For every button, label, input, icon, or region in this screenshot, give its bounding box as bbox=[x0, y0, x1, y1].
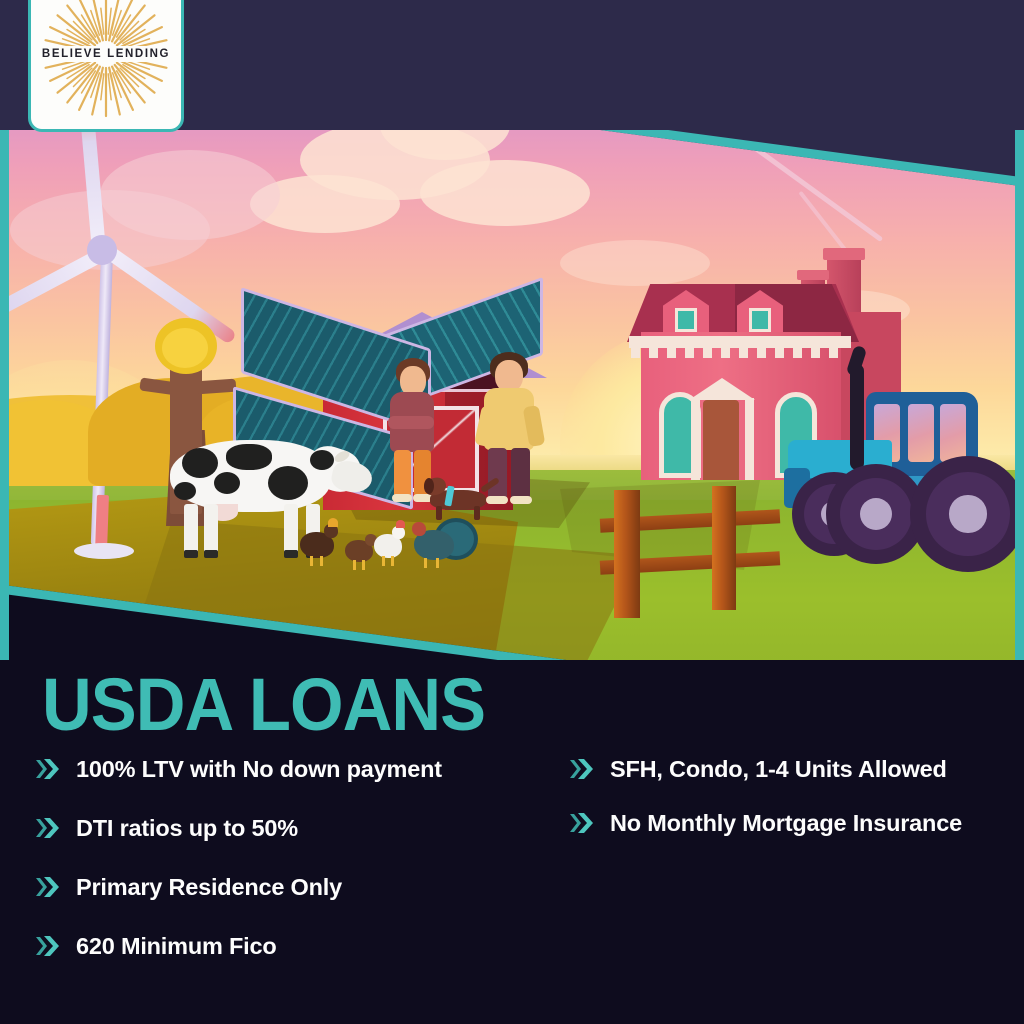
list-item: 100% LTV with No down payment bbox=[34, 754, 560, 786]
portico-column bbox=[691, 398, 700, 480]
cow-hoof bbox=[284, 550, 298, 558]
list-item: DTI ratios up to 50% bbox=[34, 813, 560, 845]
list-item: SFH, Condo, 1-4 Units Allowed bbox=[568, 754, 1024, 786]
bird-leg bbox=[391, 556, 394, 566]
cow-spot bbox=[268, 466, 308, 500]
exhaust-stack bbox=[850, 364, 864, 470]
sunburst-icon bbox=[31, 0, 181, 129]
house-door bbox=[703, 400, 739, 480]
double-chevron-right-icon bbox=[34, 757, 60, 786]
list-item-label: DTI ratios up to 50% bbox=[76, 813, 298, 843]
rooster-comb bbox=[328, 518, 338, 527]
farmer-leg bbox=[488, 448, 507, 500]
scarecrow-head-highlight bbox=[162, 328, 208, 368]
list-item: 620 Minimum Fico bbox=[34, 931, 560, 963]
logo-wordmark: BELIEVE LENDING bbox=[39, 46, 173, 62]
cow-spot bbox=[226, 444, 272, 470]
farmer-leg bbox=[511, 448, 530, 500]
bird-leg bbox=[320, 556, 323, 566]
house-dentil-trim bbox=[631, 346, 847, 358]
cow-spot bbox=[182, 448, 218, 478]
double-chevron-right-icon bbox=[34, 934, 60, 963]
dog-ear bbox=[424, 478, 434, 494]
fence-post bbox=[712, 486, 736, 610]
cow-leg bbox=[284, 504, 298, 554]
bird-leg bbox=[310, 556, 313, 566]
chimney-cap bbox=[797, 270, 829, 280]
dairy-cow bbox=[160, 430, 370, 550]
dormer-window bbox=[675, 308, 697, 332]
list-item-label: Primary Residence Only bbox=[76, 872, 342, 902]
dog-leg bbox=[436, 506, 442, 520]
double-chevron-right-icon bbox=[568, 811, 594, 840]
list-item: Primary Residence Only bbox=[34, 872, 560, 904]
list-item-label: 100% LTV with No down payment bbox=[76, 754, 442, 784]
cow-spot bbox=[214, 472, 240, 494]
content-panel: USDA LOANS 100% LTV with No down payment… bbox=[0, 660, 1024, 1024]
cow-spot bbox=[310, 450, 334, 470]
bird-leg bbox=[353, 560, 356, 570]
cow-hoof bbox=[204, 550, 218, 558]
cow-spot bbox=[174, 482, 196, 500]
believe-lending-logo[interactable]: BELIEVE LENDING bbox=[28, 0, 184, 132]
cloud-icon bbox=[420, 160, 590, 226]
scarecrow-arm bbox=[196, 379, 237, 395]
cow-hoof bbox=[184, 550, 198, 558]
cow-leg bbox=[204, 504, 218, 554]
chimney-cap bbox=[823, 248, 865, 260]
turbine-hub bbox=[87, 235, 117, 265]
bird-leg bbox=[382, 556, 385, 566]
tractor-window bbox=[908, 404, 934, 462]
wind-turbine bbox=[40, 165, 180, 565]
double-chevron-right-icon bbox=[34, 816, 60, 845]
benefits-column-left: 100% LTV with No down payment DTI ratios… bbox=[0, 754, 560, 963]
farmer-leg bbox=[394, 450, 411, 498]
chicken-comb bbox=[396, 520, 405, 528]
bird-leg bbox=[424, 558, 427, 568]
page-title: USDA LOANS bbox=[42, 668, 485, 742]
list-item: No Monthly Mortgage Insurance bbox=[568, 808, 1024, 840]
usda-loans-poster: BELIEVE LENDING USDA LOANS 100% LTV with… bbox=[0, 0, 1024, 1024]
blue-tractor bbox=[770, 380, 1020, 610]
farmer-shoe bbox=[510, 496, 532, 504]
benefits-columns: 100% LTV with No down payment DTI ratios… bbox=[0, 754, 1024, 963]
cow-leg bbox=[184, 504, 198, 554]
tractor-window bbox=[940, 404, 966, 462]
bird-leg bbox=[362, 560, 365, 570]
bird-leg bbox=[436, 558, 439, 568]
dormer-window bbox=[749, 308, 771, 332]
farmer-shoe bbox=[486, 496, 508, 504]
benefits-column-right: SFH, Condo, 1-4 Units Allowed No Monthly… bbox=[560, 754, 1024, 963]
portico-column bbox=[745, 398, 754, 480]
list-item-label: 620 Minimum Fico bbox=[76, 931, 277, 961]
turbine-base bbox=[74, 543, 134, 559]
double-chevron-right-icon bbox=[568, 757, 594, 786]
tractor-rear-wheel bbox=[910, 456, 1024, 572]
bird-head bbox=[412, 522, 426, 536]
list-item-label: SFH, Condo, 1-4 Units Allowed bbox=[610, 754, 947, 784]
double-chevron-right-icon bbox=[34, 875, 60, 904]
dog-leg bbox=[474, 506, 480, 520]
farmer-shoe bbox=[392, 494, 412, 502]
farmer-arm bbox=[388, 416, 434, 429]
fence-post bbox=[614, 490, 640, 618]
list-item-label: No Monthly Mortgage Insurance bbox=[610, 808, 962, 838]
